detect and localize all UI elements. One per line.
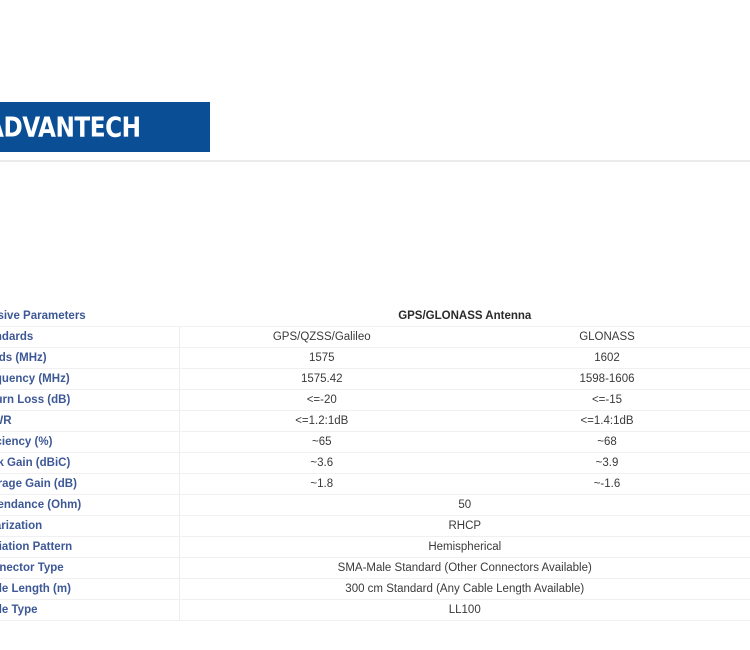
table-row: PolarizationRHCP [0, 516, 750, 537]
row-value-gps: ~3.6 [179, 453, 464, 474]
row-value-glonass: ~68 [464, 432, 750, 453]
row-value-glonass: 1598-1606 [464, 369, 750, 390]
header-divider-rule [0, 160, 750, 162]
row-label: Bands (MHz) [0, 348, 179, 369]
table-row: Bands (MHz)15751602 [0, 348, 750, 369]
row-value-glonass: GLONASS [464, 327, 750, 348]
advantech-logo-text: ADVANTECH [0, 111, 141, 144]
row-label: Passive Parameters [0, 306, 179, 327]
row-value-gps: 1575.42 [179, 369, 464, 390]
row-merged-value: 300 cm Standard (Any Cable Length Availa… [179, 579, 750, 600]
brand-header-band: ADVANTECH [0, 102, 210, 152]
passive-parameters-spec-table: Passive ParametersGPS/GLONASS AntennaSta… [0, 306, 750, 621]
table-row: Connector TypeSMA-Male Standard (Other C… [0, 558, 750, 579]
advantech-logo: ADVANTECH [0, 111, 154, 144]
table-row: Cable Length (m)300 cm Standard (Any Cab… [0, 579, 750, 600]
row-label: Frequency (MHz) [0, 369, 179, 390]
row-merged-value: 50 [179, 495, 750, 516]
row-label: Impendance (Ohm) [0, 495, 179, 516]
row-label: Cable Length (m) [0, 579, 179, 600]
row-label: VSWR [0, 411, 179, 432]
row-label: Connector Type [0, 558, 179, 579]
row-label: Peak Gain (dBiC) [0, 453, 179, 474]
row-value-gps: 1575 [179, 348, 464, 369]
row-value-glonass: ~-1.6 [464, 474, 750, 495]
row-value-gps: GPS/QZSS/Galileo [179, 327, 464, 348]
row-merged-value: LL100 [179, 600, 750, 621]
table-row: Radiation PatternHemispherical [0, 537, 750, 558]
table-row: Frequency (MHz)1575.421598-1606 [0, 369, 750, 390]
row-value-gps: <=1.2:1dB [179, 411, 464, 432]
row-value-glonass: <=-15 [464, 390, 750, 411]
table-row: Return Loss (dB)<=-20<=-15 [0, 390, 750, 411]
row-value-gps: ~65 [179, 432, 464, 453]
row-value-glonass: <=1.4:1dB [464, 411, 750, 432]
row-value-glonass: ~3.9 [464, 453, 750, 474]
row-value-gps: <=-20 [179, 390, 464, 411]
row-label: Polarization [0, 516, 179, 537]
row-merged-value: RHCP [179, 516, 750, 537]
row-label: Efficiency (%) [0, 432, 179, 453]
row-label: Radiation Pattern [0, 537, 179, 558]
table-header-merged-value: GPS/GLONASS Antenna [179, 306, 750, 327]
table-row: StandardsGPS/QZSS/GalileoGLONASS [0, 327, 750, 348]
table-row: Efficiency (%)~65~68 [0, 432, 750, 453]
table-row: Average Gain (dB)~1.8~-1.6 [0, 474, 750, 495]
row-label: Standards [0, 327, 179, 348]
table-row: Cable TypeLL100 [0, 600, 750, 621]
table-row: Impendance (Ohm)50 [0, 495, 750, 516]
row-value-glonass: 1602 [464, 348, 750, 369]
table-header-row: Passive ParametersGPS/GLONASS Antenna [0, 306, 750, 327]
row-label: Cable Type [0, 600, 179, 621]
row-merged-value: SMA-Male Standard (Other Connectors Avai… [179, 558, 750, 579]
row-label: Return Loss (dB) [0, 390, 179, 411]
row-value-gps: ~1.8 [179, 474, 464, 495]
table-row: VSWR<=1.2:1dB<=1.4:1dB [0, 411, 750, 432]
row-merged-value: Hemispherical [179, 537, 750, 558]
row-label: Average Gain (dB) [0, 474, 179, 495]
table-row: Peak Gain (dBiC)~3.6~3.9 [0, 453, 750, 474]
